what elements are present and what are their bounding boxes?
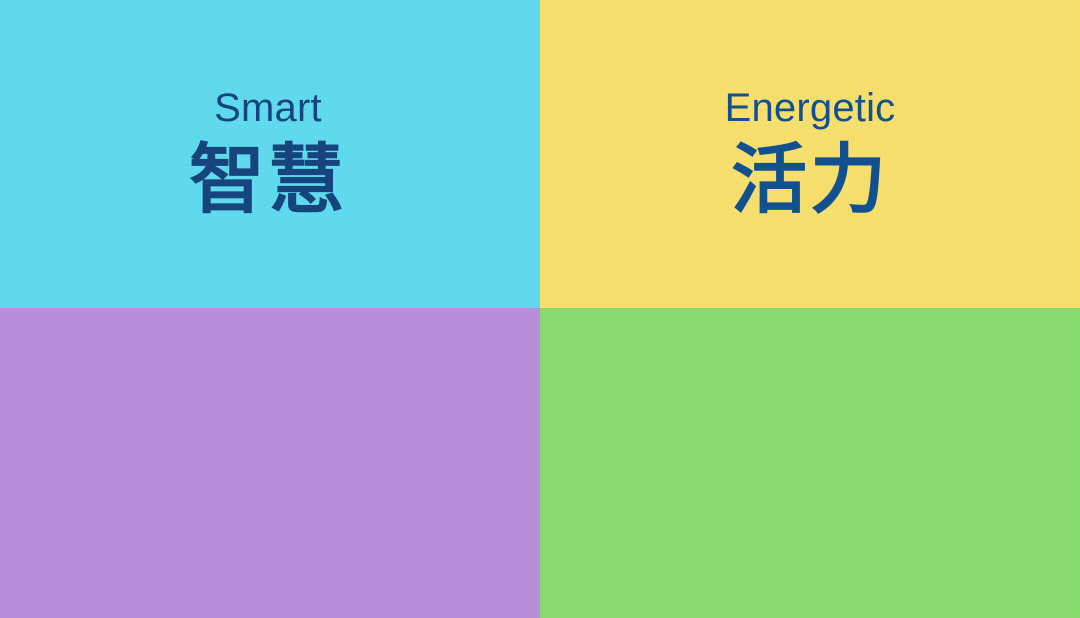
quadrant-smart-label-en: Smart: [0, 88, 538, 128]
quadrant-sustainable[interactable]: Sustainable 永續: [540, 308, 1080, 618]
quadrant-energetic-text-block: Energetic 活力: [540, 88, 1080, 218]
quadrant-energetic-label-zh: 活力: [540, 142, 1080, 218]
quadrant-smart-label-zh: 智慧: [0, 142, 538, 218]
quadrant-smart[interactable]: Smart 智慧: [0, 0, 540, 308]
quadrant-innovative[interactable]: Innovative 創新: [0, 308, 540, 618]
brand-values-canvas: Smart 智慧 Energetic 活力 Innovative 創新 Sust…: [0, 0, 1080, 618]
quadrant-energetic[interactable]: Energetic 活力: [540, 0, 1080, 308]
quadrant-grid: Smart 智慧 Energetic 活力 Innovative 創新 Sust…: [0, 0, 1080, 618]
quadrant-energetic-label-en: Energetic: [540, 88, 1080, 128]
quadrant-smart-text-block: Smart 智慧: [0, 88, 538, 218]
